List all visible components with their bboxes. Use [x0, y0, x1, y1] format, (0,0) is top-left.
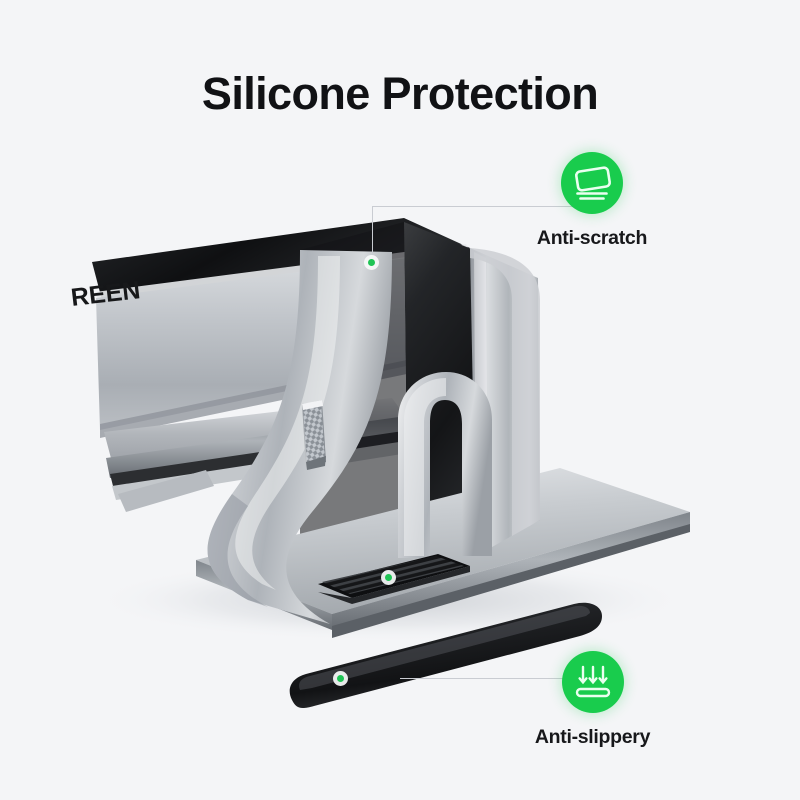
- feature-label-anti-slippery: Anti-slippery: [505, 726, 680, 749]
- adjustment-knob: [302, 400, 326, 470]
- marker-strip: [333, 671, 348, 686]
- laptop-stand-illustration: REEN: [0, 0, 800, 800]
- product-image: REEN: [0, 0, 800, 800]
- down-arrows-on-bar-icon: [562, 651, 624, 713]
- feature-badge-anti-scratch: [561, 152, 623, 214]
- feature-anti-slippery: Anti-slippery: [505, 651, 680, 749]
- feature-anti-scratch: Anti-scratch: [512, 152, 672, 250]
- marker-foot-pad: [381, 570, 396, 585]
- leader-line-anti-scratch-vertical: [372, 206, 373, 262]
- feature-badge-anti-slippery: [562, 651, 624, 713]
- feature-label-anti-scratch: Anti-scratch: [512, 227, 672, 250]
- laptop-screen-icon: [561, 152, 623, 214]
- marker-anti-scratch: [364, 255, 379, 270]
- product-feature-banner: Silicone Protection: [0, 0, 800, 800]
